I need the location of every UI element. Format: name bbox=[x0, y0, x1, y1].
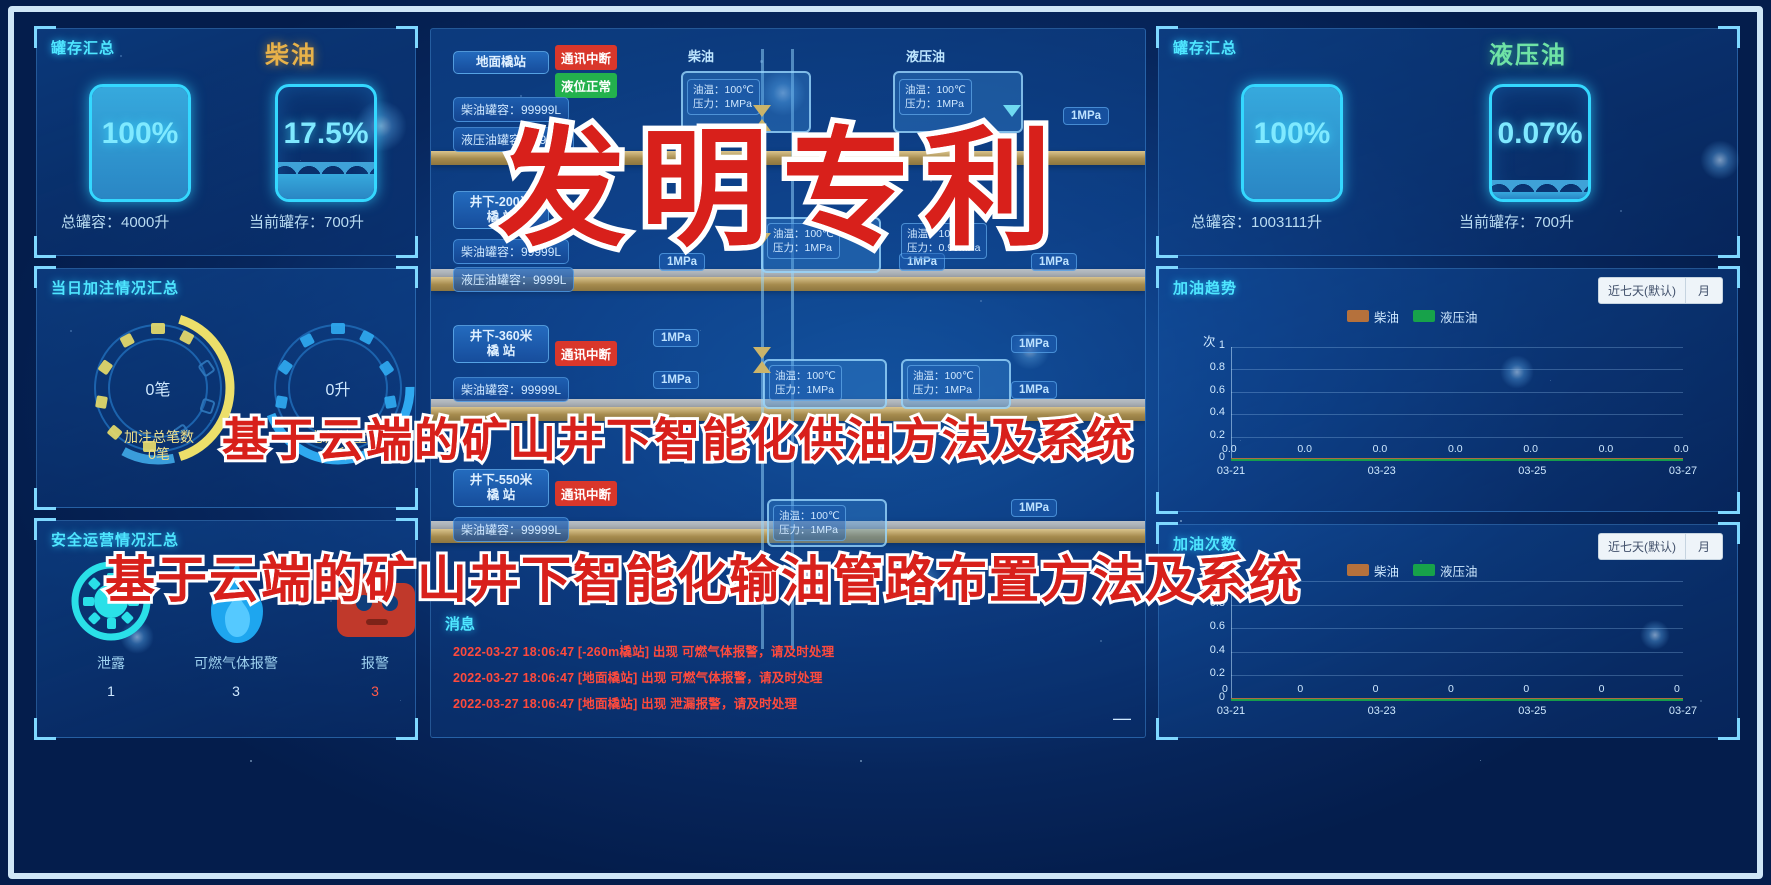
right-total-pct: 100% bbox=[1244, 117, 1340, 151]
x-tick: 03-21 bbox=[1211, 705, 1251, 717]
readout-4: 油温：100℃ 压力：1MPa bbox=[769, 365, 842, 401]
y-tick: 0.6 bbox=[1197, 384, 1225, 396]
x-tick: 03-27 bbox=[1663, 705, 1703, 717]
point-label: 0.0 bbox=[1523, 443, 1538, 455]
x-tick: 03-23 bbox=[1362, 705, 1402, 717]
left-fuel-name: 柴油 bbox=[265, 35, 317, 70]
y-tick: 0.6 bbox=[1197, 620, 1225, 632]
refuel-today-title: 当日加注情况汇总 bbox=[51, 277, 179, 298]
pressure-tag-4: 1MPa bbox=[653, 329, 699, 347]
y-tick: 0 bbox=[1197, 691, 1225, 703]
watermark-line2: 基于云端的矿山井下智能化输油管路布置方法及系统 bbox=[105, 540, 1301, 612]
pressure-tag-5: 1MPa bbox=[653, 371, 699, 389]
left-total-pct: 100% bbox=[92, 117, 188, 151]
gridline bbox=[1231, 414, 1683, 415]
readout-6-temp: 油温：100℃ bbox=[779, 510, 840, 522]
safety-value-2: 3 bbox=[329, 683, 421, 699]
right-total-tank-gauge: 100% bbox=[1241, 84, 1343, 202]
gridline bbox=[1231, 392, 1683, 393]
station-cap-2-0: 柴油罐容：99999L bbox=[453, 377, 569, 402]
station-badge-2-0: 通讯中断 bbox=[555, 341, 617, 366]
station-badge-3-0: 通讯中断 bbox=[555, 481, 617, 506]
valve-icon-3b bbox=[753, 361, 771, 373]
refuel-trend-plot: 00.20.40.60.810.003-210.00.003-230.00.00… bbox=[1159, 269, 1739, 513]
point-label: 0.0 bbox=[1373, 443, 1388, 455]
message-row-0: 2022-03-27 18:06:47 [-260m橇站] 出现 可燃气体报警，… bbox=[453, 641, 834, 660]
right-current-tank-gauge: 0.07% bbox=[1489, 84, 1591, 202]
point-label: 0.0 bbox=[1222, 443, 1237, 455]
refuel-count-label-text: 加注总笔数 bbox=[124, 429, 194, 445]
point-label: 0 bbox=[1297, 683, 1303, 695]
point-label: 0.0 bbox=[1448, 443, 1463, 455]
right-current-pct: 0.07% bbox=[1492, 117, 1588, 151]
right-tank-summary-title: 罐存汇总 bbox=[1173, 37, 1237, 58]
left-current-tank-gauge: 17.5% bbox=[275, 84, 377, 202]
refuel-count-label: 加注总笔数 0笔 bbox=[97, 429, 221, 463]
series-line-1 bbox=[1231, 699, 1683, 701]
point-label: 0.0 bbox=[1599, 443, 1614, 455]
oil-label-diesel-0: 柴油 bbox=[683, 47, 719, 67]
point-label: 0 bbox=[1523, 683, 1529, 695]
point-label: 0 bbox=[1222, 683, 1228, 695]
panel-left-tank-summary: 罐存汇总 柴油 100% 17.5% 总罐容：4000升 当前罐存：700升 bbox=[36, 28, 416, 256]
readout-5: 油温：100℃ 压力：1MPa bbox=[907, 365, 980, 401]
readout-4-temp: 油温：100℃ bbox=[775, 370, 836, 382]
station-name-0[interactable]: 地面橇站 bbox=[453, 51, 549, 74]
readout-6: 油温：100℃ 压力：1MPa bbox=[773, 505, 846, 541]
x-tick: 03-25 bbox=[1512, 465, 1552, 477]
pressure-tag-7: 1MPa bbox=[1011, 381, 1057, 399]
x-tick: 03-23 bbox=[1362, 465, 1402, 477]
x-tick: 03-25 bbox=[1512, 705, 1552, 717]
station-cap-3-0: 柴油罐容：99999L bbox=[453, 517, 569, 542]
gridline bbox=[1231, 652, 1683, 653]
message-row-2: 2022-03-27 18:06:47 [地面橇站] 出现 泄漏报警，请及时处理 bbox=[453, 693, 797, 712]
safety-value-1: 3 bbox=[165, 683, 307, 699]
y-tick: 0.8 bbox=[1197, 361, 1225, 373]
left-tank-summary-title: 罐存汇总 bbox=[51, 37, 115, 58]
readout-5-temp: 油温：100℃ bbox=[913, 370, 974, 382]
y-tick: 0.2 bbox=[1197, 667, 1225, 679]
left-current-pct: 17.5% bbox=[278, 117, 374, 151]
station-name-2[interactable]: 井下-360米 橇 站 bbox=[453, 325, 549, 363]
y-tick: 0.2 bbox=[1197, 429, 1225, 441]
point-label: 0 bbox=[1599, 683, 1605, 695]
gridline bbox=[1231, 437, 1683, 438]
panel-refuel-today: 当日加注情况汇总 bbox=[36, 268, 416, 508]
station-badge-0-0: 通讯中断 bbox=[555, 45, 617, 70]
oil-label-hyd-0: 液压油 bbox=[901, 47, 950, 67]
readout-5-press: 压力：1MPa bbox=[913, 384, 972, 396]
readout-4-press: 压力：1MPa bbox=[775, 384, 834, 396]
safety-label-1: 可燃气体报警 bbox=[165, 653, 307, 673]
panel-refuel-trend-chart: 加油趋势 近七天(默认) 月 柴油 液压油 次 00.20.40.60.810.… bbox=[1158, 268, 1738, 512]
point-label: 0 bbox=[1674, 683, 1680, 695]
gridline bbox=[1231, 628, 1683, 629]
y-tick: 0.4 bbox=[1197, 644, 1225, 656]
station-name-3[interactable]: 井下-550米 橇 站 bbox=[453, 469, 549, 507]
panel-right-tank-summary: 罐存汇总 液压油 100% 0.07% 总罐容：1003111升 当前罐存：70… bbox=[1158, 28, 1738, 256]
watermark-patent-big: 发明专利 bbox=[498, 85, 1066, 270]
safety-label-2: 报警 bbox=[329, 653, 421, 673]
y-tick: 1 bbox=[1197, 339, 1225, 351]
series-line-1 bbox=[1231, 459, 1683, 461]
right-total-caption: 总罐容：1003111升 bbox=[1191, 211, 1322, 232]
y-tick: 0.4 bbox=[1197, 406, 1225, 418]
right-fuel-name: 液压油 bbox=[1489, 35, 1567, 70]
gridline bbox=[1231, 675, 1683, 676]
point-label: 0 bbox=[1373, 683, 1379, 695]
left-total-caption: 总罐容：4000升 bbox=[61, 211, 169, 232]
point-label: 0 bbox=[1448, 683, 1454, 695]
gridline bbox=[1231, 369, 1683, 370]
safety-value-0: 1 bbox=[71, 683, 151, 699]
x-tick: 03-27 bbox=[1663, 465, 1703, 477]
pressure-tag-0: 1MPa bbox=[1063, 107, 1109, 125]
left-current-caption: 当前罐存：700升 bbox=[249, 211, 364, 232]
safety-label-0: 泄露 bbox=[71, 653, 151, 673]
dashboard-stage: 罐存汇总 柴油 100% 17.5% 总罐容：4000升 当前罐存：700升 当… bbox=[0, 0, 1771, 885]
messages-title: 消息 bbox=[445, 613, 475, 634]
point-label: 0.0 bbox=[1674, 443, 1689, 455]
valve-icon-3 bbox=[753, 347, 771, 359]
refuel-count-label-value: 0笔 bbox=[148, 446, 170, 462]
message-row-1: 2022-03-27 18:06:47 [地面橇站] 出现 可燃气体报警，请及时… bbox=[453, 667, 823, 686]
right-current-caption: 当前罐存：700升 bbox=[1459, 211, 1574, 232]
gridline bbox=[1231, 347, 1683, 348]
point-label: 0.0 bbox=[1297, 443, 1312, 455]
y-tick: 0 bbox=[1197, 451, 1225, 463]
left-total-tank-gauge: 100% bbox=[89, 84, 191, 202]
watermark-line1: 基于云端的矿山井下智能化供油方法及系统 bbox=[222, 404, 1134, 470]
station-cap-1-1: 液压油罐容：9999L bbox=[453, 267, 574, 292]
pressure-tag-6: 1MPa bbox=[1011, 335, 1057, 353]
x-tick: 03-21 bbox=[1211, 465, 1251, 477]
readout-6-press: 压力：1MPa bbox=[779, 524, 838, 536]
minus-icon[interactable]: — bbox=[1113, 708, 1131, 729]
pressure-tag-8: 1MPa bbox=[1011, 499, 1057, 517]
